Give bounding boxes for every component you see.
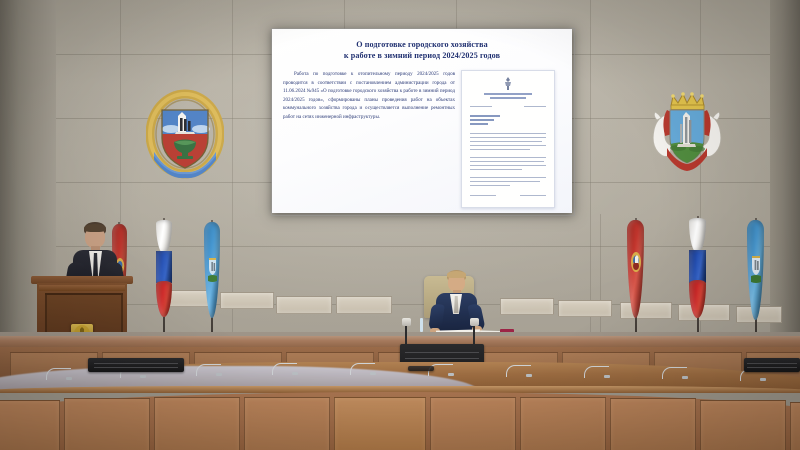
scene-vignette [0, 0, 800, 450]
conference-hall-photo: О подготовке городского хозяйства к рабо… [0, 0, 800, 450]
